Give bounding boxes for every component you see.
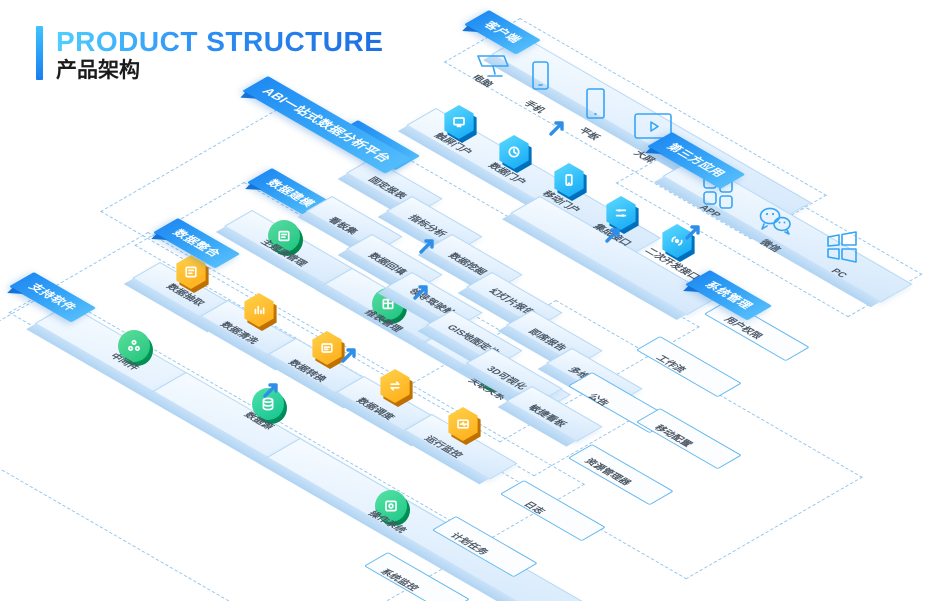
chart-bars-icon — [242, 293, 276, 327]
wechat-icon — [756, 204, 796, 241]
monitor-run-icon — [446, 407, 480, 441]
transform-icon — [310, 331, 344, 365]
product-structure-diagram: PRODUCT STRUCTURE 产品架构 中间件 — [0, 0, 935, 601]
isometric-scene: 中间件 数据源 操作系统 支持软件 数据抽取 — [0, 0, 935, 601]
windows-icon — [823, 228, 861, 271]
smartphone-icon — [528, 58, 554, 103]
schedule-icon — [378, 369, 412, 403]
